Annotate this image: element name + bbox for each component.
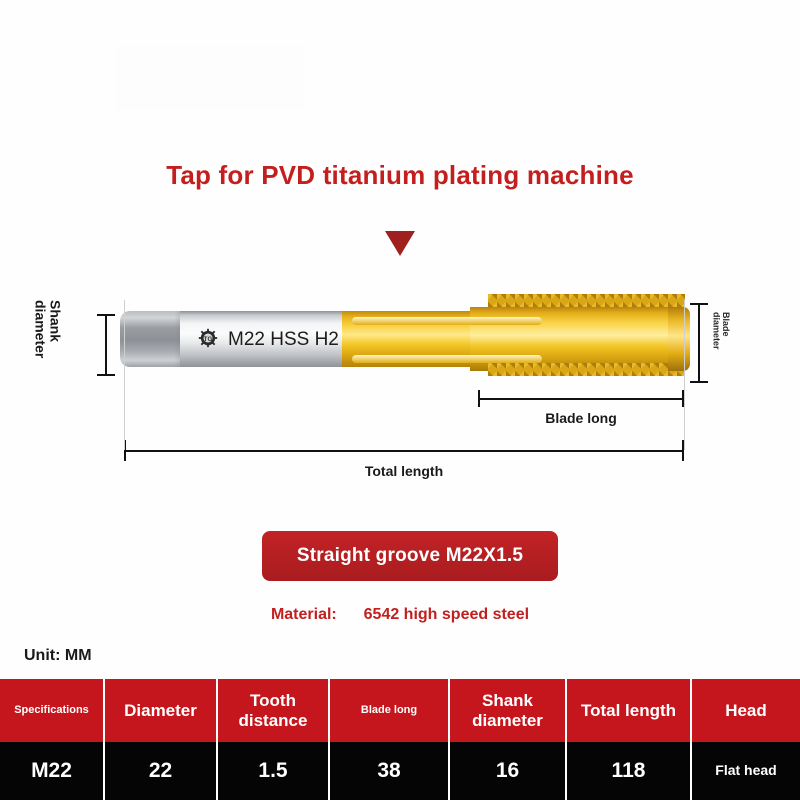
gear-logo-icon: TG [198,328,218,348]
svg-text:TG: TG [204,336,213,343]
triangle-down-icon [385,231,415,256]
unit-label: Unit: MM [24,647,92,665]
tap-product-illustration: TG M22 HSS H2 [120,285,690,390]
blade-diameter-dim-cap-bottom [690,381,708,383]
header-diameter: Diameter [105,679,218,742]
flute-slot-upper [352,317,542,325]
shank-diameter-dim-cap-top [97,314,115,316]
straight-groove-button[interactable]: Straight groove M22X1.5 [262,531,558,581]
blade-diameter-dim-cap-top [690,303,708,305]
tap-tip-chamfer [668,307,690,371]
shank-diameter-label: Shankdiameter [33,300,62,358]
cell-specifications: M22 [0,742,105,800]
cell-total-length: 118 [567,742,692,800]
shank-diameter-dim-cap-bottom [97,374,115,376]
total-length-label: Total length [124,463,684,479]
spec-table: Specifications Diameter Tooth distance B… [0,679,800,800]
shank-diameter-dim-line [105,314,107,376]
header-head: Head [692,679,800,742]
product-spec-page: Tap for PVD titanium plating machine [0,0,800,800]
page-title: Tap for PVD titanium plating machine [0,160,800,191]
shank-marking-text: M22 HSS H2 [228,329,339,351]
blade-long-dim-cap-left [478,390,480,407]
header-shank-diameter: Shank diameter [450,679,567,742]
header-total-length: Total length [567,679,692,742]
thread-crests-bottom [488,363,685,376]
blade-diameter-label-l2: diameter [711,312,721,350]
flute-slot-lower [352,355,542,363]
flute-grooves [492,329,682,357]
cell-diameter: 22 [105,742,218,800]
shank-diameter-label-l2: diameter [33,300,49,358]
header-blade-long: Blade long [330,679,450,742]
square-drive-end [120,311,188,367]
material-label: Material: [271,606,337,623]
header-specifications: Specifications [0,679,105,742]
cell-blade-long: 38 [330,742,450,800]
thread-crests-top [488,294,685,307]
guide-line-right [684,300,685,450]
table-header-row: Specifications Diameter Tooth distance B… [0,679,800,742]
blade-diameter-dim-line [698,303,700,383]
material-value: 6542 high speed steel [364,606,529,623]
blade-long-dim-line [478,398,684,400]
cell-tooth-distance: 1.5 [218,742,330,800]
material-line: Material: 6542 high speed steel [0,606,800,624]
guide-line-left [124,300,125,450]
cell-head: Flat head [692,742,800,800]
cell-shank-diameter: 16 [450,742,567,800]
blade-long-label: Blade long [478,410,684,426]
total-length-dim-line [124,450,684,452]
blade-diameter-label-l1: Blade [721,312,731,337]
blade-diameter-label: Bladediameter [711,312,730,350]
shank-diameter-label-l1: Shank [47,300,63,342]
header-tooth-distance: Tooth distance [218,679,330,742]
background-watermark [115,45,305,110]
table-row: M22 22 1.5 38 16 118 Flat head [0,742,800,800]
